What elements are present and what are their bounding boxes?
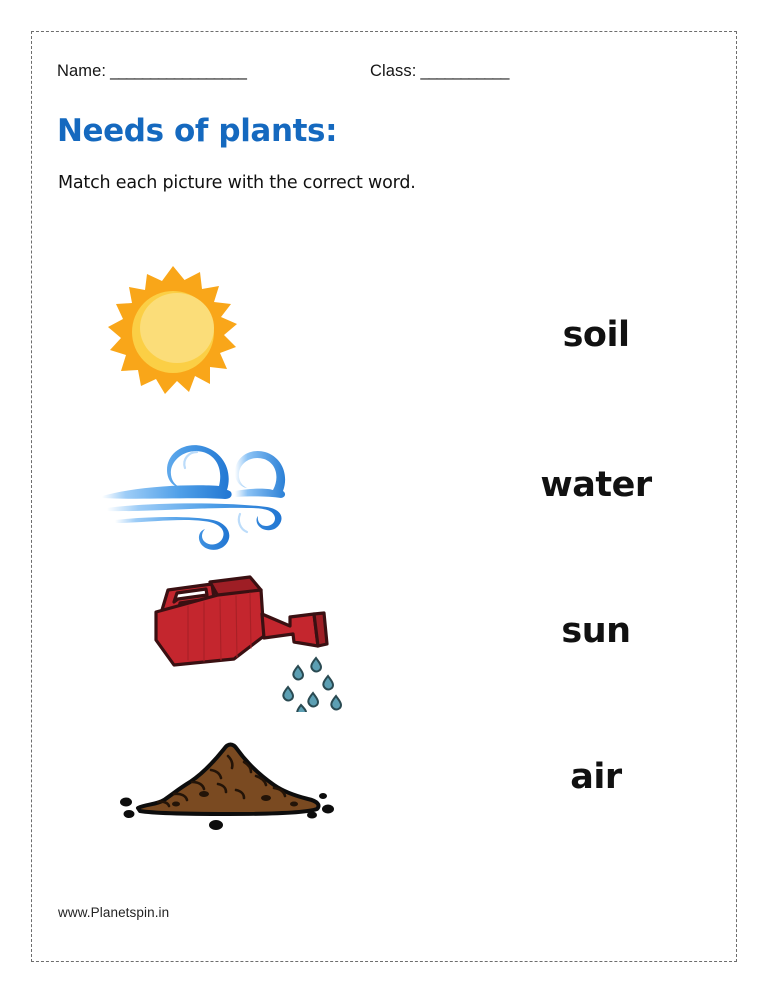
word-label: air: [570, 757, 621, 797]
match-row: air: [31, 702, 737, 852]
picture-cell-sun[interactable]: [83, 260, 363, 410]
match-row: water: [31, 410, 737, 560]
matching-exercise-area: soil: [31, 260, 737, 830]
name-writing-line: _________________: [110, 62, 246, 80]
picture-cell-wind[interactable]: [83, 410, 363, 560]
page-title: Needs of plants:: [57, 113, 337, 149]
footer-website-url: www.Planetspin.in: [58, 905, 169, 920]
word-label: sun: [561, 611, 630, 651]
soil-pile-illustration: [116, 732, 341, 832]
sun-illustration: [83, 260, 263, 405]
picture-cell-soil[interactable]: [83, 702, 363, 852]
name-field[interactable]: Name:_________________: [57, 62, 246, 81]
student-info-row: Name:_________________ Class:___________: [57, 62, 677, 88]
watering-can-illustration: [138, 562, 353, 712]
word-label: water: [540, 465, 651, 505]
word-cell-sun[interactable]: sun: [461, 556, 731, 706]
word-cell-soil[interactable]: soil: [461, 260, 731, 410]
class-label: Class:: [370, 62, 416, 80]
class-writing-line: ___________: [420, 62, 508, 80]
match-row: sun: [31, 556, 737, 706]
word-label: soil: [563, 315, 630, 355]
instruction-text: Match each picture with the correct word…: [58, 173, 416, 193]
word-cell-water[interactable]: water: [461, 410, 731, 560]
class-field[interactable]: Class:___________: [370, 62, 508, 81]
word-cell-air[interactable]: air: [461, 702, 731, 852]
name-label: Name:: [57, 62, 106, 80]
picture-cell-watering-can[interactable]: [83, 556, 363, 706]
match-row: soil: [31, 260, 737, 410]
